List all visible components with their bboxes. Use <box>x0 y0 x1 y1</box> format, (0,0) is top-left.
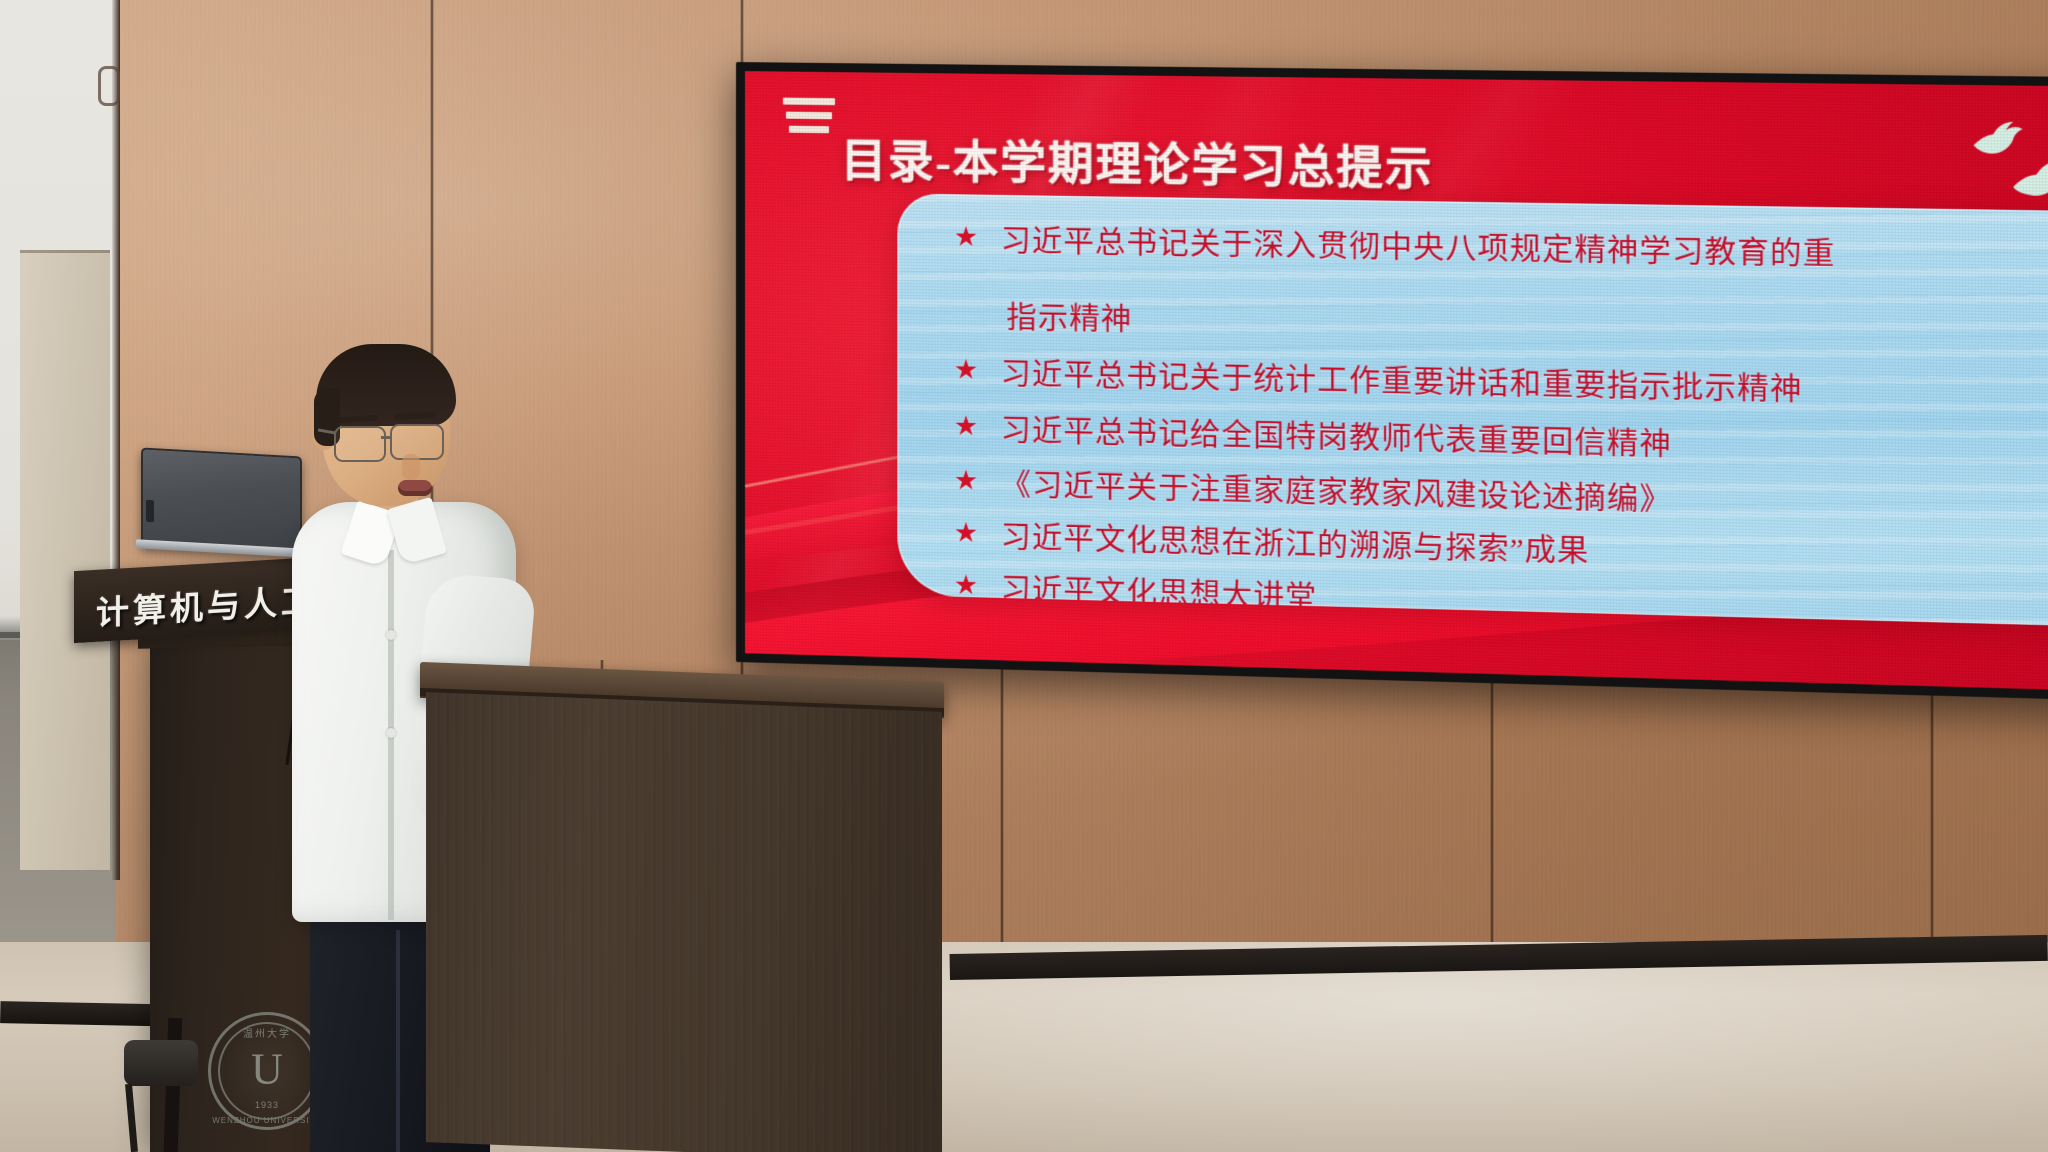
list-item-label: 习近平总书记关于统计工作重要讲话和重要指示批示精神 <box>1000 348 1802 409</box>
list-item: ★ 习近平文化思想在浙江的溯源与探索”成果 <box>954 510 1590 570</box>
slide-title: 目录-本学期理论学习总提示 <box>841 124 1434 198</box>
logo-year: 1933 <box>255 1100 279 1110</box>
list-item-label: 习近平文化思想在浙江的溯源与探索”成果 <box>1000 511 1589 570</box>
shirt-button <box>386 728 396 738</box>
wall-seam <box>1490 660 1494 960</box>
list-item: ★ 《习近平关于注重家庭家教家风建设论述摘编》 <box>954 458 1672 519</box>
star-icon: ★ <box>954 571 978 599</box>
doorway-edge <box>112 0 120 880</box>
star-icon: ★ <box>954 412 978 440</box>
star-icon: ★ <box>954 466 978 494</box>
star-icon: ★ <box>954 223 978 251</box>
list-item-label: 习近平总书记关于深入贯彻中央八项规定精神学习教育的重 <box>1000 215 1835 273</box>
logo-monogram: U <box>251 1043 283 1094</box>
list-item: ★ 习近平总书记关于深入贯彻中央八项规定精神学习教育的重 <box>954 214 1836 273</box>
list-item: ★ 习近平总书记给全国特岗教师代表重要回信精神 <box>954 403 1672 463</box>
person-mouth <box>398 480 432 496</box>
list-item-continuation: 指示精神 <box>1006 292 1132 339</box>
hamburger-line <box>783 98 835 106</box>
slide-content-panel: ★ 习近平总书记关于深入贯彻中央八项规定精神学习教育的重 指示精神 ★ 习近平总… <box>897 193 2048 626</box>
stool <box>124 1040 198 1086</box>
presentation-slide: 目录-本学期理论学习总提示 ★ 习近平总书记关于深入贯彻中央八项规定精神学习教育… <box>745 71 2048 690</box>
presentation-room-photo: 目录-本学期理论学习总提示 ★ 习近平总书记关于深入贯彻中央八项规定精神学习教育… <box>0 0 2048 1152</box>
trouser-seam <box>396 930 400 1152</box>
list-item-label: 习近平总书记给全国特岗教师代表重要回信精神 <box>1000 404 1671 463</box>
hamburger-line <box>786 112 832 120</box>
table-wood-grain <box>426 692 942 1152</box>
side-cabinet <box>20 250 110 870</box>
list-item: ★ 习近平总书记关于统计工作重要讲话和重要指示批示精神 <box>954 347 1803 409</box>
wall-seam <box>1000 650 1004 950</box>
conference-table <box>420 672 944 1152</box>
hamburger-lines-icon <box>783 98 835 141</box>
hamburger-line <box>789 126 829 134</box>
led-display-screen[interactable]: 目录-本学期理论学习总提示 ★ 习近平总书记关于深入贯彻中央八项规定精神学习教育… <box>736 62 2048 700</box>
dove-icon <box>2010 156 2048 202</box>
star-icon: ★ <box>954 356 978 384</box>
shirt-button <box>386 630 396 640</box>
logo-name-cn: 温州大学 <box>243 1025 291 1040</box>
door-knob-icon[interactable] <box>98 66 120 106</box>
person-nose <box>402 454 420 480</box>
wall-seam <box>1930 655 1934 945</box>
dove-icon <box>1969 118 2027 160</box>
slide-bullet-list: ★ 习近平总书记关于深入贯彻中央八项规定精神学习教育的重 指示精神 ★ 习近平总… <box>897 193 2048 626</box>
glasses-bridge <box>381 436 392 439</box>
cabinet-top-edge <box>20 250 110 253</box>
star-icon: ★ <box>954 519 978 547</box>
list-item-label: 《习近平关于注重家庭家教家风建设论述摘编》 <box>1000 459 1671 519</box>
laptop-brand-badge <box>146 500 154 522</box>
glasses-lens-right <box>390 424 444 460</box>
glasses-lens-left <box>334 426 386 462</box>
